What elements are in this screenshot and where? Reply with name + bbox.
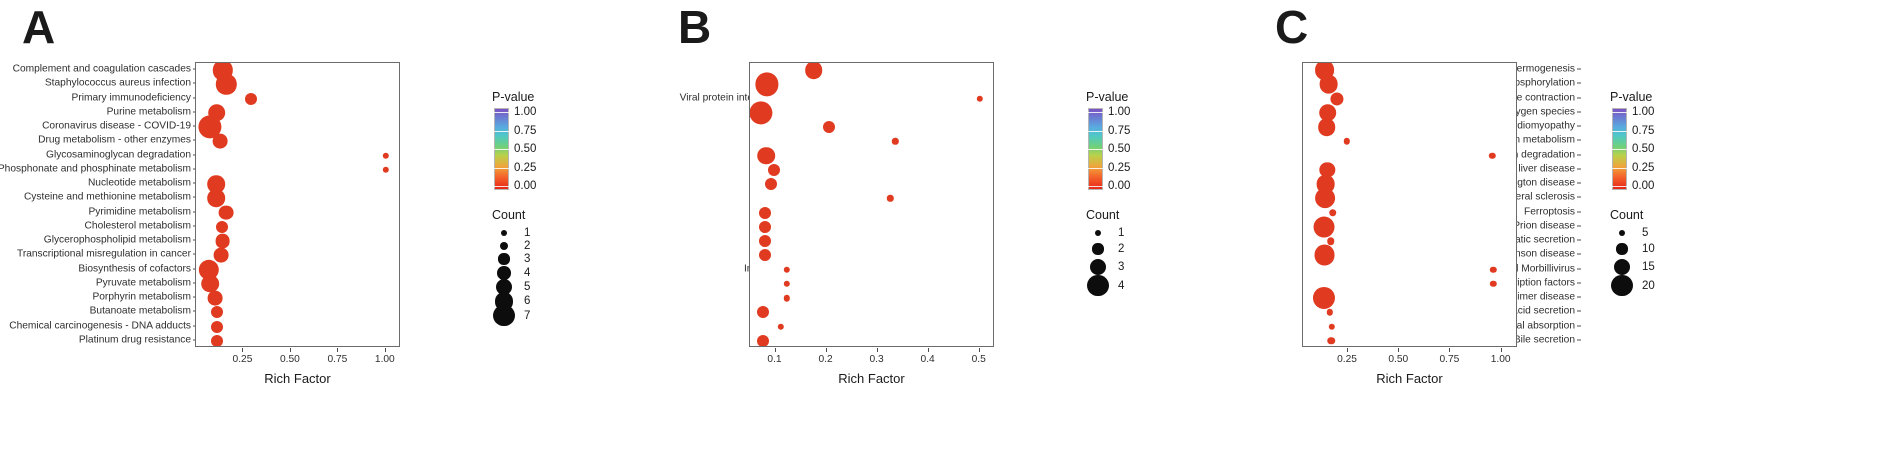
y-axis-tick	[1577, 282, 1581, 283]
y-axis-tick	[1577, 168, 1581, 169]
x-axis-tick-label: 0.50	[280, 354, 300, 365]
data-point	[216, 74, 236, 94]
y-axis-tick	[1577, 339, 1581, 340]
count-legend-dot-cell	[1610, 275, 1634, 296]
data-point	[759, 207, 771, 219]
count-legend-dot	[501, 230, 507, 236]
data-point	[759, 249, 771, 261]
x-axis-tick	[979, 348, 980, 352]
data-point	[215, 234, 230, 249]
data-point	[207, 190, 225, 208]
y-axis-tick-label: Cysteine and methionine metabolism	[24, 192, 191, 203]
data-point	[765, 178, 777, 190]
y-axis-tick	[1577, 211, 1581, 212]
kegg-enrichment-figure: AComplement and coagulation cascadesStap…	[0, 0, 1901, 459]
y-axis-tick-label: Glycosaminoglycan degradation	[46, 149, 191, 160]
count-legend-item: 10	[1610, 243, 1655, 255]
y-axis-tick-label: Butanoate metabolism	[90, 306, 191, 317]
colorbar-tick	[494, 131, 509, 132]
pvalue-colorbar-wrap: 1.000.750.500.250.00	[1610, 108, 1652, 194]
x-axis-tick-label: 0.50	[1388, 354, 1408, 365]
count-legend-item: 15	[1610, 259, 1655, 275]
colorbar-tick	[494, 149, 509, 150]
count-legend-title: Count	[492, 208, 534, 222]
count-legend-label: 1	[1118, 227, 1124, 239]
count-legend-dot	[1090, 259, 1106, 275]
data-point	[383, 152, 389, 158]
data-point	[758, 147, 776, 165]
count-legend-dot	[493, 305, 514, 326]
y-axis-tick	[1577, 154, 1581, 155]
colorbar-tick-label: 0.75	[1632, 125, 1654, 137]
y-axis-tick-label: Platinum drug resistance	[79, 334, 191, 345]
y-axis-tick-label: Nucleotide metabolism	[88, 178, 191, 189]
count-legend-item: 4	[1086, 275, 1124, 296]
x-axis-tick	[826, 348, 827, 352]
y-axis-tick	[1577, 197, 1581, 198]
data-point	[212, 134, 227, 149]
colorbar-tick-label: 1.00	[1108, 106, 1130, 118]
colorbar-tick-label: 0.75	[1108, 125, 1130, 137]
x-axis-tick-label: 0.25	[233, 354, 253, 365]
pvalue-legend-title: P-value	[1086, 90, 1128, 104]
y-axis-tick	[1577, 311, 1581, 312]
colorbar-tick	[1088, 186, 1103, 187]
data-point	[887, 195, 893, 201]
colorbar-tick-label: 1.00	[514, 106, 536, 118]
data-point	[1328, 323, 1334, 329]
y-axis-tick	[1577, 126, 1581, 127]
count-legend-label: 4	[1118, 280, 1124, 292]
data-point	[892, 138, 898, 144]
count-legend-dot	[1087, 275, 1108, 296]
x-axis-tick-label: 0.25	[1337, 354, 1357, 365]
x-axis-tick-label: 1.00	[1491, 354, 1511, 365]
colorbar-tick	[1612, 168, 1627, 169]
pvalue-colorbar-wrap: 1.000.750.500.250.00	[492, 108, 534, 194]
colorbar-tick	[1612, 149, 1627, 150]
data-point	[759, 235, 771, 247]
x-axis-title: Rich Factor	[838, 371, 904, 386]
y-axis-tick-label: Drug metabolism - other enzymes	[38, 135, 191, 146]
data-point	[784, 266, 790, 272]
legend: P-value1.000.750.500.250.00Count1234	[1086, 90, 1128, 291]
y-axis-tick	[1577, 140, 1581, 141]
count-legend-dot	[1614, 259, 1630, 275]
data-point	[757, 335, 769, 347]
count-legend-dot	[1092, 243, 1103, 254]
y-axis-tick-label: Bile secretion	[1514, 334, 1575, 345]
x-axis-tick	[1347, 348, 1348, 352]
y-axis-tick-label: Ferroptosis	[1524, 206, 1575, 217]
count-legend-item: 1	[1086, 227, 1124, 239]
x-axis-tick-label: 0.2	[818, 354, 832, 365]
colorbar-tick-label: 0.50	[1108, 143, 1130, 155]
count-legend-item: 3	[1086, 259, 1124, 275]
data-point	[768, 164, 780, 176]
data-point	[777, 323, 783, 329]
colorbar-tick	[1088, 131, 1103, 132]
count-legend-items: 1234	[1086, 227, 1128, 291]
colorbar-tick	[1612, 186, 1627, 187]
panel-c: CThermogenesisOxidative phosphorylationC…	[1280, 0, 1901, 459]
y-axis-tick-label: Complement and coagulation cascades	[13, 64, 191, 75]
y-axis-tick-label: Prion disease	[1513, 220, 1575, 231]
colorbar-tick-label: 0.25	[1108, 162, 1130, 174]
count-legend-label: 5	[1642, 227, 1648, 239]
y-axis-tick	[1577, 69, 1581, 70]
y-axis-tick	[1577, 183, 1581, 184]
y-axis-tick	[1577, 83, 1581, 84]
data-point	[1327, 337, 1335, 345]
data-point	[805, 62, 823, 79]
count-legend-dot-cell	[1086, 243, 1110, 254]
data-point	[750, 101, 773, 124]
pvalue-colorbar-wrap: 1.000.750.500.250.00	[1086, 108, 1128, 194]
colorbar-tick-label: 0.50	[1632, 143, 1654, 155]
y-axis-tick-label: Staphylococcus aureus infection	[45, 78, 191, 89]
panel-label-a: A	[22, 4, 55, 50]
count-legend-title: Count	[1610, 208, 1652, 222]
data-point	[1319, 75, 1338, 94]
data-point	[211, 335, 223, 347]
data-point	[383, 167, 389, 173]
legend: P-value1.000.750.500.250.00Count1234567	[492, 90, 534, 318]
count-legend-dot-cell	[1086, 275, 1110, 296]
colorbar-tick	[1088, 168, 1103, 169]
data-point	[757, 306, 769, 318]
count-legend-dot	[498, 253, 509, 264]
colorbar-tick	[1612, 131, 1627, 132]
colorbar-tick-label: 0.00	[514, 180, 536, 192]
count-legend-item: 1	[492, 227, 530, 239]
y-axis-tick-label: Chemical carcinogenesis - DNA adducts	[9, 320, 191, 331]
y-axis-tick-label: Glycerophospholipid metabolism	[44, 235, 191, 246]
count-legend-item: 4	[492, 266, 530, 280]
count-legend-label: 1	[524, 227, 530, 239]
data-point	[211, 321, 223, 333]
y-axis-tick-label: Biosynthesis of cofactors	[78, 263, 191, 274]
data-point	[1313, 287, 1335, 309]
data-point	[759, 221, 771, 233]
count-legend-items: 1234567	[492, 227, 534, 318]
panel-a: AComplement and coagulation cascadesStap…	[0, 0, 640, 459]
count-legend-dot	[497, 266, 511, 280]
x-axis-tick-label: 0.1	[767, 354, 781, 365]
data-point	[1490, 266, 1496, 272]
data-point	[1318, 118, 1336, 136]
count-legend-label: 2	[524, 240, 530, 252]
x-axis-tick-label: 0.5	[972, 354, 986, 365]
panel-label-b: B	[678, 4, 711, 50]
y-axis-tick	[1577, 225, 1581, 226]
count-legend-label: 3	[524, 253, 530, 265]
colorbar-tick-label: 1.00	[1632, 106, 1654, 118]
panel-b: BOlfactory transductionSpliceosomeViral …	[640, 0, 1280, 459]
data-point	[1330, 92, 1343, 105]
count-legend-dot	[1095, 230, 1101, 236]
count-legend-dot-cell	[1086, 259, 1110, 275]
count-legend-dot	[500, 242, 509, 251]
y-axis-tick-label: Cholesterol metabolism	[85, 220, 191, 231]
y-axis-tick	[1577, 297, 1581, 298]
data-point	[784, 295, 790, 301]
count-legend-label: 10	[1642, 243, 1655, 255]
y-axis-tick	[1577, 97, 1581, 98]
data-point	[784, 281, 790, 287]
x-axis-tick-label: 1.00	[375, 354, 395, 365]
y-axis-tick-label: Pyrimidine metabolism	[89, 206, 191, 217]
data-point	[1344, 138, 1350, 144]
count-legend-dot-cell	[492, 253, 516, 264]
x-axis-tick-label: 0.75	[327, 354, 347, 365]
colorbar-tick-label: 0.25	[1632, 162, 1654, 174]
count-legend-dot-cell	[492, 266, 516, 280]
colorbar-tick-label: 0.00	[1108, 180, 1130, 192]
colorbar-tick	[1088, 112, 1103, 113]
count-legend-dot-cell	[1086, 230, 1110, 236]
count-legend-dot-cell	[1610, 230, 1634, 236]
colorbar-tick	[1612, 112, 1627, 113]
legend: P-value1.000.750.500.250.00Count5101520	[1610, 90, 1652, 291]
data-point	[245, 93, 257, 105]
count-legend-label: 15	[1642, 261, 1655, 273]
count-legend-dot	[1616, 243, 1627, 254]
data-point	[1314, 245, 1335, 266]
count-legend-item: 5	[1610, 227, 1648, 239]
data-point	[219, 205, 234, 220]
colorbar-tick-label: 0.00	[1632, 180, 1654, 192]
y-axis-tick-label: Transcriptional misregulation in cancer	[17, 249, 191, 260]
x-axis-tick	[337, 348, 338, 352]
y-axis-tick-label: Coronavirus disease - COVID-19	[42, 121, 191, 132]
colorbar-tick-label: 0.25	[514, 162, 536, 174]
colorbar-tick	[1088, 149, 1103, 150]
plot-area	[1302, 62, 1517, 347]
data-point	[1327, 309, 1333, 315]
colorbar-tick	[494, 186, 509, 187]
colorbar-tick	[494, 112, 509, 113]
count-legend-label: 3	[1118, 261, 1124, 273]
colorbar-tick-label: 0.75	[514, 125, 536, 137]
data-point	[208, 291, 223, 306]
data-point	[216, 221, 228, 233]
count-legend-item: 20	[1610, 275, 1655, 296]
x-axis-tick	[290, 348, 291, 352]
y-axis-tick	[1577, 111, 1581, 112]
count-legend-dot-cell	[492, 242, 516, 251]
data-point	[1314, 216, 1335, 237]
count-legend-dot-cell	[492, 305, 516, 326]
count-legend-items: 5101520	[1610, 227, 1652, 291]
x-axis-title: Rich Factor	[1376, 371, 1442, 386]
data-point	[214, 248, 229, 263]
count-legend-dot	[1619, 230, 1625, 236]
data-point	[211, 306, 223, 318]
x-axis-tick	[1398, 348, 1399, 352]
data-point	[1327, 237, 1335, 245]
count-legend-item: 3	[492, 253, 530, 265]
data-point	[976, 95, 982, 101]
count-legend-label: 2	[1118, 243, 1124, 255]
data-point	[1490, 281, 1496, 287]
data-point	[1315, 188, 1335, 208]
x-axis-tick	[385, 348, 386, 352]
x-axis-title: Rich Factor	[264, 371, 330, 386]
data-point	[823, 121, 835, 133]
y-axis-tick	[1577, 240, 1581, 241]
count-legend-dot	[1611, 275, 1632, 296]
count-legend-item: 7	[492, 305, 530, 326]
colorbar-tick	[494, 168, 509, 169]
y-axis-tick-label: Purine metabolism	[107, 106, 191, 117]
colorbar-tick-label: 0.50	[514, 143, 536, 155]
x-axis-tick	[242, 348, 243, 352]
count-legend-label: 20	[1642, 280, 1655, 292]
y-axis-tick	[1577, 325, 1581, 326]
pvalue-legend-title: P-value	[1610, 90, 1652, 104]
x-axis-tick	[877, 348, 878, 352]
count-legend-item: 2	[492, 240, 530, 252]
y-axis-tick	[1577, 268, 1581, 269]
count-legend-label: 4	[524, 267, 530, 279]
data-point	[1329, 209, 1337, 217]
y-axis-tick-label: Porphyrin metabolism	[92, 292, 191, 303]
y-axis-tick-label: Primary immunodeficiency	[72, 92, 191, 103]
x-axis-tick-label: 0.3	[870, 354, 884, 365]
y-axis-tick-label: Pyruvate metabolism	[96, 277, 191, 288]
count-legend-label: 7	[524, 310, 530, 322]
count-legend-dot-cell	[1610, 259, 1634, 275]
count-legend-dot-cell	[1610, 243, 1634, 254]
x-axis-tick	[1449, 348, 1450, 352]
plot-area	[195, 62, 400, 347]
count-legend-title: Count	[1086, 208, 1128, 222]
x-axis-tick-label: 0.75	[1440, 354, 1460, 365]
pvalue-legend-title: P-value	[492, 90, 534, 104]
y-axis-tick	[1577, 254, 1581, 255]
count-legend-item: 2	[1086, 243, 1124, 255]
x-axis-tick	[1501, 348, 1502, 352]
panel-label-c: C	[1275, 4, 1308, 50]
x-axis-tick-label: 0.4	[921, 354, 935, 365]
count-legend-dot-cell	[492, 230, 516, 236]
x-axis-tick	[775, 348, 776, 352]
x-axis-tick	[928, 348, 929, 352]
data-point	[1489, 152, 1495, 158]
plot-area	[749, 62, 994, 347]
y-axis-tick-label: Phosphonate and phosphinate metabolism	[0, 163, 191, 174]
data-point	[755, 73, 778, 96]
